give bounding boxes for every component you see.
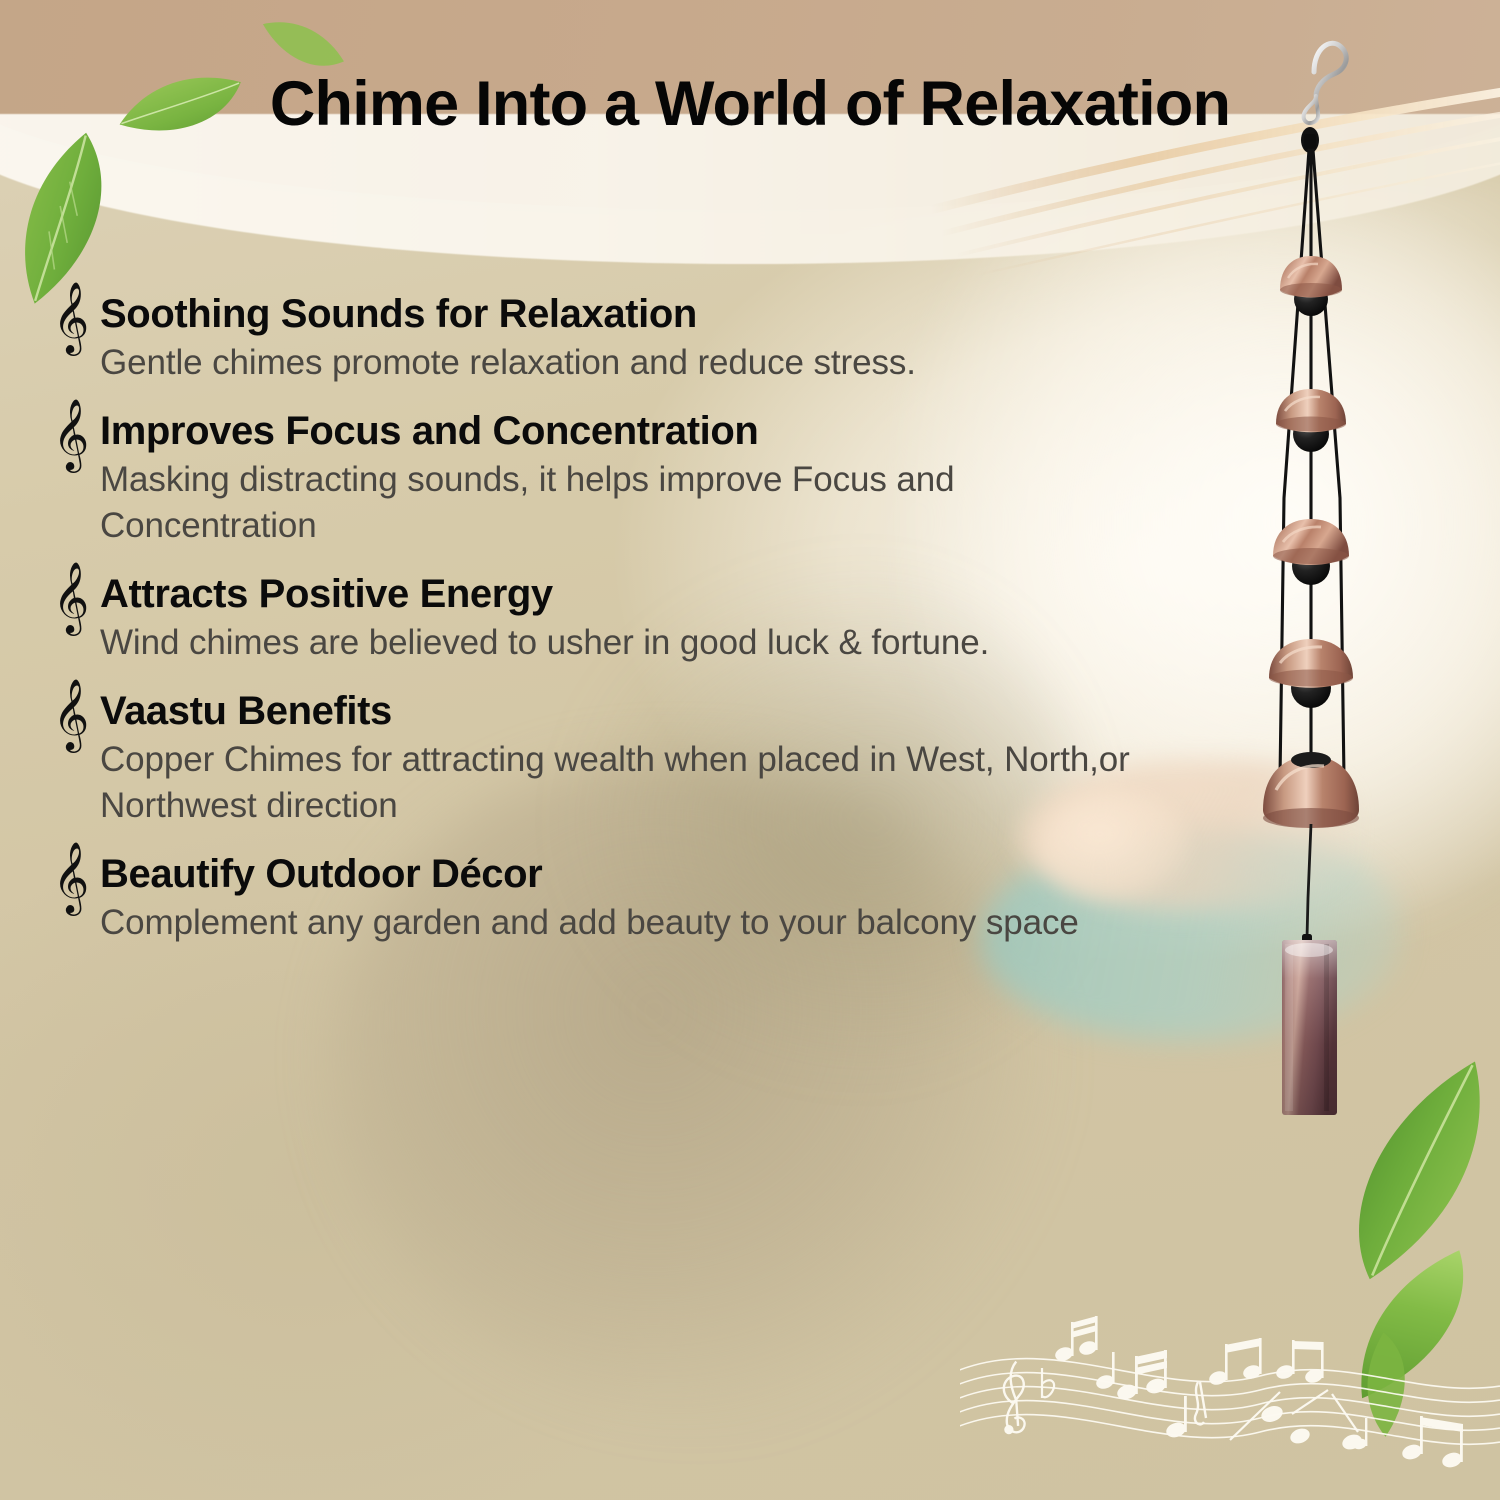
wind-sail bbox=[1282, 940, 1337, 1115]
feature-item: 𝄞 Soothing Sounds for Relaxation Gentle … bbox=[42, 292, 1282, 385]
feature-list: 𝄞 Soothing Sounds for Relaxation Gentle … bbox=[42, 292, 1282, 969]
feature-description: Wind chimes are believed to usher in goo… bbox=[100, 620, 1060, 666]
treble-clef-icon: 𝄞 bbox=[42, 568, 100, 625]
chime-bell bbox=[1280, 256, 1342, 316]
feature-item: 𝄞 Improves Focus and Concentration Maski… bbox=[42, 409, 1282, 548]
treble-clef-icon: 𝄞 bbox=[42, 405, 100, 462]
feature-heading: Attracts Positive Energy bbox=[100, 572, 1282, 617]
leaf-icon bbox=[1320, 1245, 1500, 1406]
feature-heading: Beautify Outdoor Décor bbox=[100, 852, 1282, 897]
feature-heading: Improves Focus and Concentration bbox=[100, 409, 1282, 454]
s-hook-icon bbox=[1304, 43, 1347, 123]
feature-item: 𝄞 Vaastu Benefits Copper Chimes for attr… bbox=[42, 689, 1282, 828]
treble-clef-icon: 𝄞 bbox=[42, 288, 100, 345]
feature-description: Copper Chimes for attracting wealth when… bbox=[100, 737, 1220, 828]
copper-wind-chime-product bbox=[1222, 18, 1422, 1128]
leaf-icon bbox=[1332, 1329, 1437, 1441]
infographic-poster: Chime Into a World of Relaxation bbox=[0, 0, 1500, 1500]
sail-cord bbox=[1307, 824, 1311, 938]
feature-description: Complement any garden and add beauty to … bbox=[100, 900, 1282, 946]
feature-description: Gentle chimes promote relaxation and red… bbox=[100, 340, 1200, 386]
treble-clef-icon: 𝄞 bbox=[42, 685, 100, 742]
feature-item: 𝄞 Attracts Positive Energy Wind chimes a… bbox=[42, 572, 1282, 665]
feature-heading: Soothing Sounds for Relaxation bbox=[100, 292, 1282, 337]
treble-clef-icon: 𝄞 bbox=[42, 848, 100, 905]
music-staff-notes-icon bbox=[960, 1310, 1500, 1500]
feature-description: Masking distracting sounds, it helps imp… bbox=[100, 457, 1160, 548]
feature-heading: Vaastu Benefits bbox=[100, 689, 1282, 734]
feature-item: 𝄞 Beautify Outdoor Décor Complement any … bbox=[42, 852, 1282, 945]
